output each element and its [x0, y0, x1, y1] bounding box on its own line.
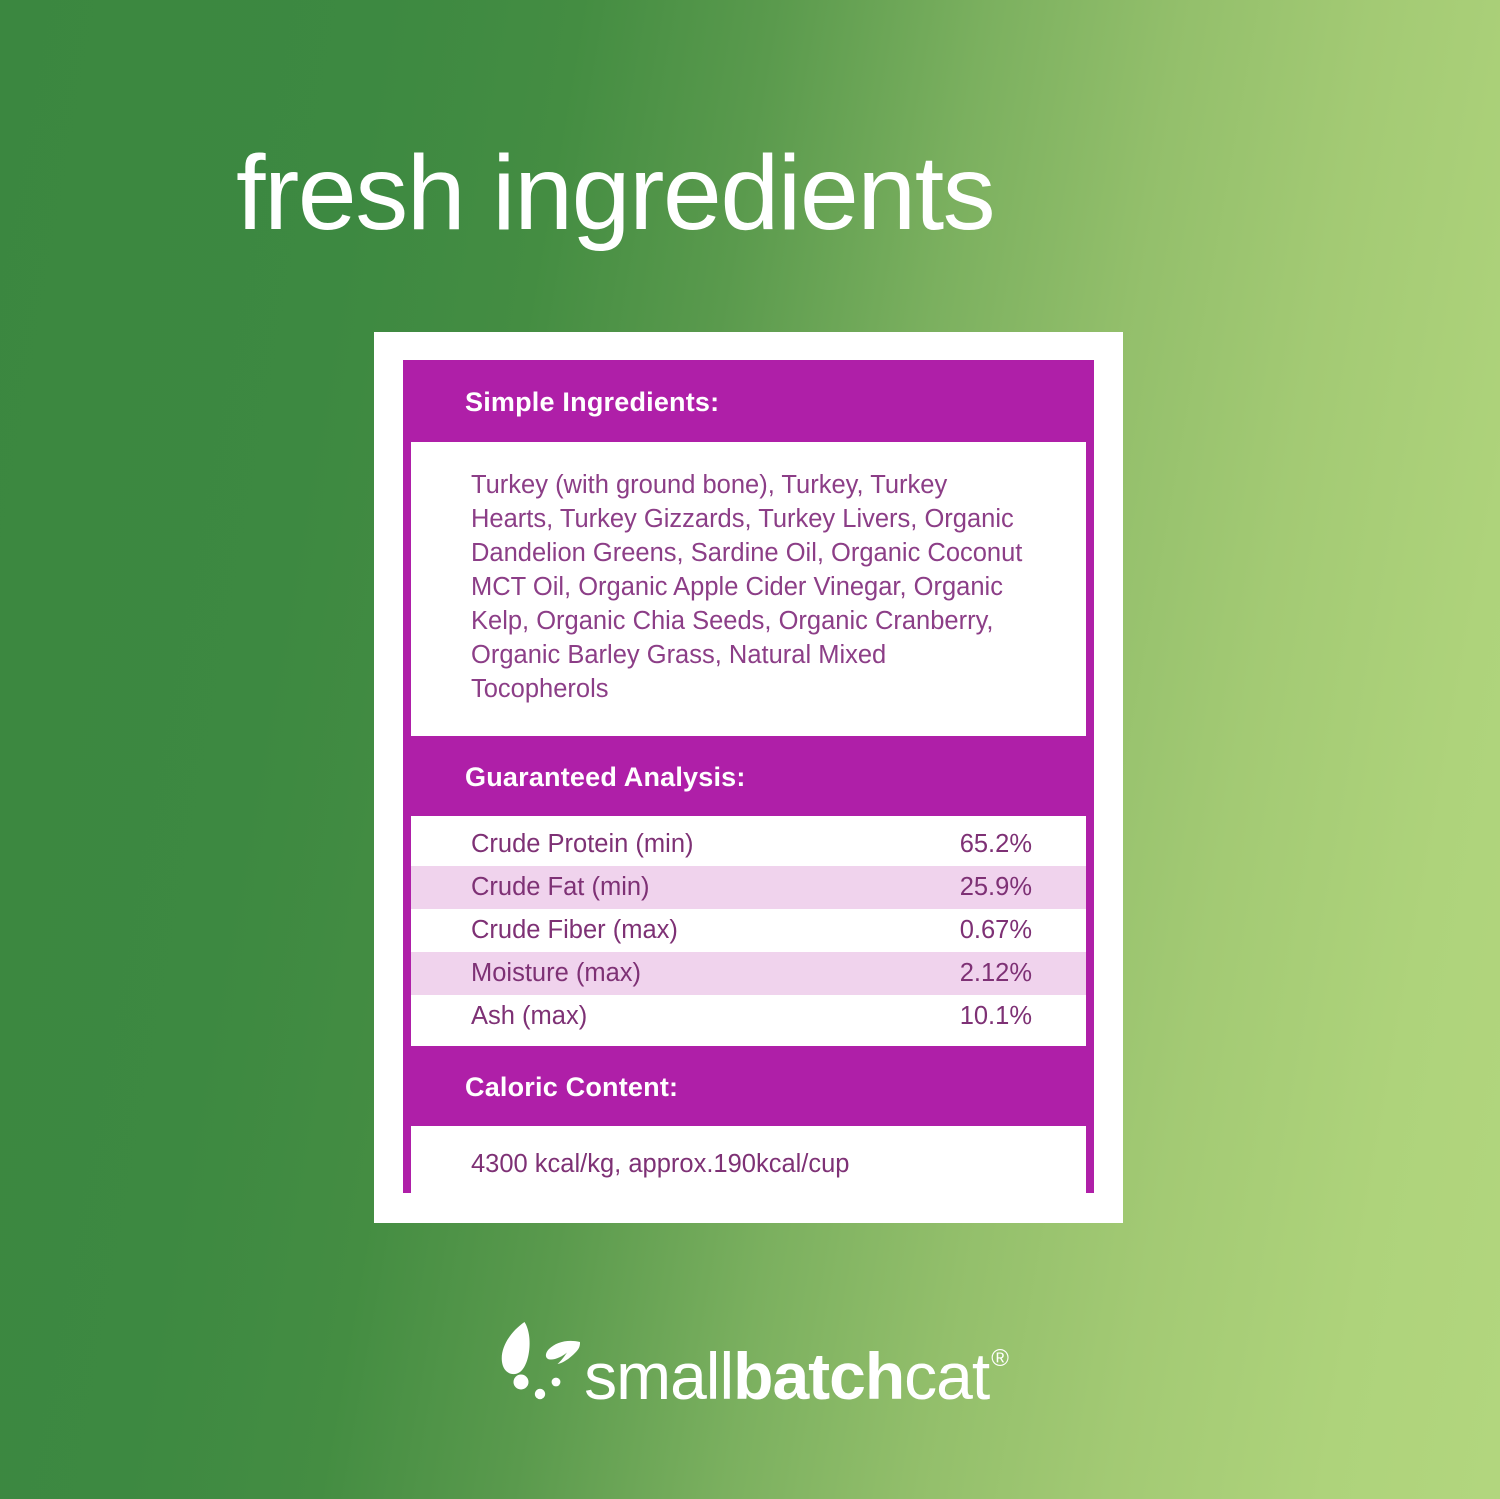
page-root: fresh ingredients Simple Ingredients: Tu…: [0, 0, 1500, 1499]
caloric-body: 4300 kcal/kg, approx.190kcal/cup: [411, 1126, 1086, 1204]
ingredients-text: Turkey (with ground bone), Turkey, Turke…: [471, 468, 1028, 706]
row-label: Ash (max): [471, 1002, 587, 1031]
ingredients-heading: Simple Ingredients:: [403, 360, 1094, 442]
row-value: 10.1%: [960, 1002, 1032, 1031]
row-label: Moisture (max): [471, 959, 641, 988]
ingredients-body: Turkey (with ground bone), Turkey, Turke…: [411, 442, 1086, 736]
row-value: 2.12%: [960, 959, 1032, 988]
row-value: 65.2%: [960, 830, 1032, 859]
page-title-word-fresh: fresh: [236, 134, 464, 252]
brand-logo: smallbatchcat®: [0, 1318, 1500, 1410]
brand-word-small: small: [584, 1339, 733, 1413]
row-value: 0.67%: [960, 916, 1032, 945]
row-label: Crude Protein (min): [471, 830, 694, 859]
row-value: 25.9%: [960, 873, 1032, 902]
brand-word-cat: cat: [904, 1339, 989, 1413]
page-title: fresh ingredients: [236, 137, 1296, 249]
table-row: Moisture (max) 2.12%: [411, 952, 1086, 995]
info-panel: Simple Ingredients: Turkey (with ground …: [403, 360, 1094, 1193]
brand-word-batch: batch: [733, 1339, 904, 1413]
table-row: Crude Fiber (max) 0.67%: [411, 909, 1086, 952]
analysis-table: Crude Protein (min) 65.2% Crude Fat (min…: [411, 816, 1086, 1046]
leaf-sprout-icon: [494, 1318, 590, 1410]
page-title-word-ingredients: ingredients: [492, 134, 994, 252]
brand-wordmark: smallbatchcat®: [584, 1336, 1006, 1409]
row-label: Crude Fat (min): [471, 873, 650, 902]
caloric-heading: Caloric Content:: [403, 1046, 1094, 1126]
table-row: Crude Fat (min) 25.9%: [411, 866, 1086, 909]
table-row: Crude Protein (min) 65.2%: [411, 823, 1086, 866]
registered-trademark-icon: ®: [991, 1345, 1008, 1372]
table-row: Ash (max) 10.1%: [411, 995, 1086, 1038]
row-label: Crude Fiber (max): [471, 916, 678, 945]
info-card: Simple Ingredients: Turkey (with ground …: [374, 332, 1123, 1223]
caloric-text: 4300 kcal/kg, approx.190kcal/cup: [471, 1150, 850, 1178]
analysis-heading: Guaranteed Analysis:: [403, 736, 1094, 816]
table-bottom-pad: [411, 1038, 1086, 1046]
table-top-pad: [411, 816, 1086, 823]
